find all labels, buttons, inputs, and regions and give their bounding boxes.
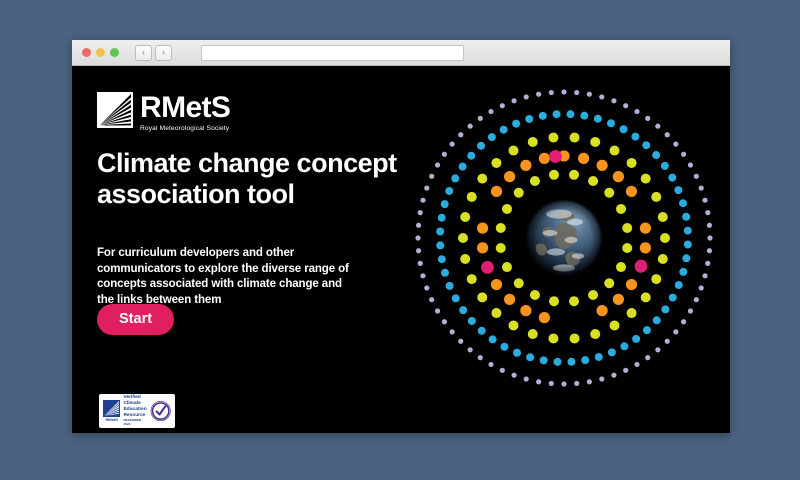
start-button[interactable]: Start: [97, 304, 174, 335]
ring-dot-cyan-ring: [608, 348, 616, 356]
ring-dot-cyan-ring: [446, 282, 454, 290]
ring-dot-outer-lavender-ring: [511, 98, 516, 103]
ring-dot-outer-lavender-ring: [655, 124, 660, 129]
ring-dot-orange-ring: [640, 223, 651, 234]
ring-dot-yellow-inner-ring: [530, 176, 540, 186]
browser-window: ‹ ›: [72, 40, 730, 433]
ring-dot-yellow-outer-ring: [627, 158, 637, 168]
logo-text: RMetS Royal Meteorological Society: [140, 92, 230, 133]
ring-dot-outer-lavender-ring: [665, 132, 670, 137]
ring-dot-cyan-ring: [580, 112, 588, 120]
ring-dot-outer-lavender-ring: [702, 273, 707, 278]
toolbar-filler: [471, 45, 722, 61]
ring-dot-yellow-inner-ring: [502, 262, 512, 272]
concept-association-graphic: [414, 88, 714, 388]
ring-dot-cyan-ring: [489, 335, 497, 343]
ring-dot-outer-lavender-ring: [549, 381, 554, 386]
ring-dot-outer-lavender-ring: [561, 381, 566, 386]
ring-dot-outer-lavender-ring: [435, 162, 440, 167]
ring-dot-yellow-outer-ring: [651, 274, 661, 284]
page-title: Climate change concept association tool: [97, 148, 397, 210]
ring-dot-yellow-outer-ring: [548, 333, 558, 343]
ring-dot-cyan-ring: [682, 213, 690, 221]
ring-dot-yellow-outer-ring: [610, 146, 620, 156]
ring-dot-yellow-inner-ring: [530, 290, 540, 300]
ring-dot-outer-lavender-ring: [673, 142, 678, 147]
ring-dot-cyan-ring: [451, 174, 459, 182]
ring-dot-cyan-ring: [668, 174, 676, 182]
ring-dot-yellow-outer-ring: [658, 254, 668, 264]
earth-globe-image: [526, 200, 602, 276]
ring-dot-yellow-outer-ring: [590, 137, 600, 147]
earth-globe-svg: [526, 200, 602, 276]
ring-dot-cyan-ring: [553, 110, 561, 118]
address-bar[interactable]: [201, 45, 464, 61]
ring-dot-outer-lavender-ring: [415, 235, 420, 240]
ring-dot-cyan-ring: [459, 306, 467, 314]
ring-dot-outer-lavender-ring: [442, 319, 447, 324]
ring-dot-cyan-ring: [594, 115, 602, 123]
ring-dot-outer-lavender-ring: [681, 319, 686, 324]
ring-dot-outer-lavender-ring: [424, 185, 429, 190]
ring-dot-outer-lavender-ring: [623, 368, 628, 373]
ring-dot-yellow-outer-ring: [528, 137, 538, 147]
ring-dot-outer-lavender-ring: [468, 124, 473, 129]
ring-dot-orange-ring: [578, 153, 589, 164]
ring-dot-yellow-inner-ring: [514, 278, 524, 288]
ring-dot-cyan-ring: [438, 214, 446, 222]
ring-dot-yellow-outer-ring: [658, 212, 668, 222]
ring-dot-outer-lavender-ring: [705, 261, 710, 266]
ring-dot-outer-lavender-ring: [420, 198, 425, 203]
verified-climate-education-resource-badge: RMetS Verified Climate Education Resourc…: [99, 394, 175, 428]
ring-dot-yellow-inner-ring: [496, 243, 506, 253]
ring-dot-outer-lavender-ring: [478, 116, 483, 121]
ring-dot-yellow-outer-ring: [509, 320, 519, 330]
ring-dot-yellow-outer-ring: [570, 133, 580, 143]
page-content: RMetS Royal Meteorological Society Clima…: [72, 66, 730, 433]
ring-dot-cyan-ring: [682, 254, 690, 262]
ring-dot-outer-lavender-ring: [478, 355, 483, 360]
ring-dot-yellow-outer-ring: [590, 329, 600, 339]
ring-dot-outer-lavender-ring: [458, 339, 463, 344]
ring-dot-cyan-ring: [477, 142, 485, 150]
ring-dot-outer-lavender-ring: [707, 235, 712, 240]
ring-dot-cyan-ring: [445, 187, 453, 195]
magenta-highlight-3: [635, 260, 648, 273]
ring-dot-outer-lavender-ring: [611, 98, 616, 103]
badge-date: DECEMBER 2023: [123, 419, 146, 426]
ring-dot-cyan-ring: [478, 327, 486, 335]
ring-dot-outer-lavender-ring: [524, 94, 529, 99]
badge-rmets-logo: RMetS: [102, 398, 121, 424]
ring-dot-orange-ring: [613, 294, 624, 305]
ring-dot-yellow-inner-ring: [549, 170, 559, 180]
rmets-sunburst-icon: [97, 92, 133, 128]
ring-dot-cyan-ring: [679, 199, 687, 207]
ring-dot-outer-lavender-ring: [707, 248, 712, 253]
ring-dot-yellow-inner-ring: [569, 296, 579, 306]
ring-dot-cyan-ring: [642, 141, 650, 149]
ring-dot-outer-lavender-ring: [524, 376, 529, 381]
ring-dot-yellow-outer-ring: [641, 174, 651, 184]
verified-check-icon: [149, 399, 172, 423]
ring-dot-outer-lavender-ring: [702, 198, 707, 203]
ring-dot-cyan-ring: [679, 268, 687, 276]
ring-dot-cyan-ring: [607, 119, 615, 127]
ring-dot-outer-lavender-ring: [574, 381, 579, 386]
ring-dot-yellow-inner-ring: [569, 170, 579, 180]
ring-dot-outer-lavender-ring: [688, 162, 693, 167]
ring-dot-cyan-ring: [467, 152, 475, 160]
ring-dot-orange-ring: [477, 223, 488, 234]
ring-dot-yellow-outer-ring: [491, 158, 501, 168]
ring-dot-outer-lavender-ring: [611, 373, 616, 378]
ring-dot-cyan-ring: [513, 349, 521, 357]
ring-dot-yellow-inner-ring: [496, 223, 506, 233]
ring-dot-outer-lavender-ring: [416, 223, 421, 228]
ring-dot-yellow-outer-ring: [651, 192, 661, 202]
ring-dot-outer-lavender-ring: [694, 174, 699, 179]
ring-dot-outer-lavender-ring: [536, 379, 541, 384]
ring-dot-yellow-outer-ring: [477, 174, 487, 184]
ring-dot-outer-lavender-ring: [468, 347, 473, 352]
page-description: For curriculum developers and other comm…: [97, 246, 355, 308]
ring-dot-cyan-ring: [631, 133, 639, 141]
ring-dot-cyan-ring: [652, 151, 660, 159]
ring-dot-outer-lavender-ring: [536, 92, 541, 97]
ring-dot-outer-lavender-ring: [645, 355, 650, 360]
ring-dot-yellow-outer-ring: [570, 333, 580, 343]
badge-org-label: RMetS: [106, 418, 118, 422]
ring-dot-orange-ring: [539, 153, 550, 164]
ring-dot-cyan-ring: [566, 110, 574, 118]
ring-dot-orange-ring: [491, 186, 502, 197]
ring-dot-cyan-ring: [436, 241, 444, 249]
ring-dot-outer-lavender-ring: [705, 210, 710, 215]
ring-dot-outer-lavender-ring: [688, 308, 693, 313]
ring-dot-outer-lavender-ring: [665, 339, 670, 344]
ring-dot-outer-lavender-ring: [435, 308, 440, 313]
ring-dot-cyan-ring: [500, 343, 508, 351]
ring-dot-outer-lavender-ring: [488, 362, 493, 367]
ring-dot-yellow-outer-ring: [610, 320, 620, 330]
ring-dot-outer-lavender-ring: [599, 94, 604, 99]
ring-dot-cyan-ring: [567, 358, 575, 366]
ring-dot-yellow-outer-ring: [458, 233, 468, 243]
ring-dot-outer-lavender-ring: [458, 132, 463, 137]
ring-dot-cyan-ring: [554, 358, 562, 366]
ring-dot-yellow-outer-ring: [460, 212, 470, 222]
ring-dot-cyan-ring: [468, 317, 476, 325]
ring-dot-yellow-outer-ring: [627, 308, 637, 318]
ring-dot-outer-lavender-ring: [699, 285, 704, 290]
ring-dot-orange-ring: [504, 294, 515, 305]
ring-dot-orange-ring: [504, 171, 515, 182]
magenta-highlight-1: [481, 261, 494, 274]
forward-icon[interactable]: ›: [155, 45, 172, 61]
ring-dot-outer-lavender-ring: [418, 261, 423, 266]
ring-dot-cyan-ring: [540, 356, 548, 364]
ring-dot-cyan-ring: [661, 305, 669, 313]
ring-dot-yellow-outer-ring: [467, 192, 477, 202]
ring-dot-outer-lavender-ring: [442, 152, 447, 157]
ring-dot-cyan-ring: [526, 353, 534, 361]
ring-dot-outer-lavender-ring: [587, 379, 592, 384]
ring-dot-outer-lavender-ring: [500, 368, 505, 373]
ring-dot-cyan-ring: [620, 342, 628, 350]
ring-dot-yellow-inner-ring: [549, 296, 559, 306]
ring-dot-cyan-ring: [620, 125, 628, 133]
ring-dot-yellow-inner-ring: [588, 290, 598, 300]
window-controls: [82, 48, 119, 57]
ring-dot-outer-lavender-ring: [500, 103, 505, 108]
ring-dot-orange-ring: [597, 160, 608, 171]
ring-dot-orange-ring: [477, 242, 488, 253]
ring-dot-outer-lavender-ring: [450, 329, 455, 334]
ring-dot-outer-lavender-ring: [418, 210, 423, 215]
ring-dot-cyan-ring: [539, 112, 547, 120]
ring-dot-outer-lavender-ring: [429, 297, 434, 302]
ring-dot-outer-lavender-ring: [681, 152, 686, 157]
ring-dot-orange-ring: [520, 305, 531, 316]
ring-dot-orange-ring: [520, 160, 531, 171]
ring-dot-cyan-ring: [595, 353, 603, 361]
ring-dot-outer-lavender-ring: [634, 109, 639, 114]
back-icon[interactable]: ‹: [135, 45, 152, 61]
ring-dot-orange-ring: [491, 279, 502, 290]
ring-dot-cyan-ring: [500, 126, 508, 134]
ring-dot-cyan-ring: [452, 294, 460, 302]
ring-dot-outer-lavender-ring: [673, 329, 678, 334]
minimize-window-button[interactable]: [96, 48, 105, 57]
ring-dot-outer-lavender-ring: [429, 174, 434, 179]
ring-dot-outer-lavender-ring: [549, 90, 554, 95]
ring-dot-outer-lavender-ring: [450, 142, 455, 147]
ring-dot-yellow-inner-ring: [588, 176, 598, 186]
ring-dot-yellow-outer-ring: [528, 329, 538, 339]
ring-dot-yellow-inner-ring: [622, 243, 632, 253]
ring-dot-orange-ring: [613, 171, 624, 182]
ring-dot-outer-lavender-ring: [420, 273, 425, 278]
ring-dot-cyan-ring: [581, 356, 589, 364]
ring-dot-yellow-inner-ring: [514, 188, 524, 198]
ring-dot-outer-lavender-ring: [599, 376, 604, 381]
ring-dot-yellow-outer-ring: [491, 308, 501, 318]
ring-dot-cyan-ring: [674, 186, 682, 194]
ring-dot-yellow-outer-ring: [548, 133, 558, 143]
ring-dot-orange-ring: [539, 312, 550, 323]
ring-dot-outer-lavender-ring: [424, 285, 429, 290]
browser-toolbar: ‹ ›: [72, 40, 730, 66]
close-window-button[interactable]: [82, 48, 91, 57]
ring-dot-outer-lavender-ring: [511, 373, 516, 378]
ring-dot-yellow-outer-ring: [641, 292, 651, 302]
ring-dot-yellow-outer-ring: [509, 146, 519, 156]
ring-dot-cyan-ring: [512, 120, 520, 128]
ring-dot-orange-ring: [597, 305, 608, 316]
logo-wordmark: RMetS: [140, 93, 230, 123]
ring-dot-cyan-ring: [441, 269, 449, 277]
ring-dot-yellow-inner-ring: [616, 204, 626, 214]
logo-tagline: Royal Meteorological Society: [140, 126, 230, 133]
ring-dot-yellow-inner-ring: [604, 188, 614, 198]
ring-dot-yellow-inner-ring: [604, 278, 614, 288]
ring-dot-cyan-ring: [684, 227, 692, 235]
ring-dot-yellow-outer-ring: [460, 254, 470, 264]
badge-sunburst-icon: [103, 400, 120, 417]
ring-dot-cyan-ring: [669, 294, 677, 302]
navigation-buttons: ‹ ›: [135, 45, 172, 61]
ring-dot-cyan-ring: [632, 335, 640, 343]
ring-dot-outer-lavender-ring: [561, 89, 566, 94]
rmets-logo[interactable]: RMetS Royal Meteorological Society: [97, 92, 230, 133]
ring-dot-cyan-ring: [441, 200, 449, 208]
ring-dot-cyan-ring: [438, 255, 446, 263]
ring-dot-outer-lavender-ring: [416, 248, 421, 253]
badge-text-block: Verified Climate Education Resource DECE…: [123, 395, 146, 426]
ring-dot-outer-lavender-ring: [655, 347, 660, 352]
ring-dot-outer-lavender-ring: [694, 297, 699, 302]
ring-dot-yellow-inner-ring: [616, 262, 626, 272]
magenta-highlight-2: [549, 150, 562, 163]
ring-dot-outer-lavender-ring: [488, 109, 493, 114]
ring-dot-outer-lavender-ring: [587, 92, 592, 97]
ring-dot-cyan-ring: [653, 316, 661, 324]
ring-dot-yellow-outer-ring: [467, 274, 477, 284]
ring-dot-yellow-inner-ring: [502, 204, 512, 214]
ring-dot-outer-lavender-ring: [574, 90, 579, 95]
ring-dot-orange-ring: [640, 242, 651, 253]
ring-dot-yellow-outer-ring: [477, 292, 487, 302]
ring-dot-cyan-ring: [675, 281, 683, 289]
ring-dot-outer-lavender-ring: [645, 116, 650, 121]
ring-dot-cyan-ring: [643, 326, 651, 334]
ring-dot-outer-lavender-ring: [623, 103, 628, 108]
ring-dot-cyan-ring: [436, 228, 444, 236]
ring-dot-outer-lavender-ring: [707, 223, 712, 228]
ring-dot-outer-lavender-ring: [699, 185, 704, 190]
ring-dot-yellow-inner-ring: [622, 223, 632, 233]
ring-dot-orange-ring: [626, 186, 637, 197]
ring-dot-cyan-ring: [661, 162, 669, 170]
ring-dot-cyan-ring: [684, 240, 692, 248]
ring-dot-cyan-ring: [525, 115, 533, 123]
ring-dot-orange-ring: [626, 279, 637, 290]
ring-dot-cyan-ring: [488, 133, 496, 141]
ring-dot-cyan-ring: [459, 163, 467, 171]
ring-dot-outer-lavender-ring: [634, 362, 639, 367]
maximize-window-button[interactable]: [110, 48, 119, 57]
ring-dot-yellow-outer-ring: [660, 233, 670, 243]
